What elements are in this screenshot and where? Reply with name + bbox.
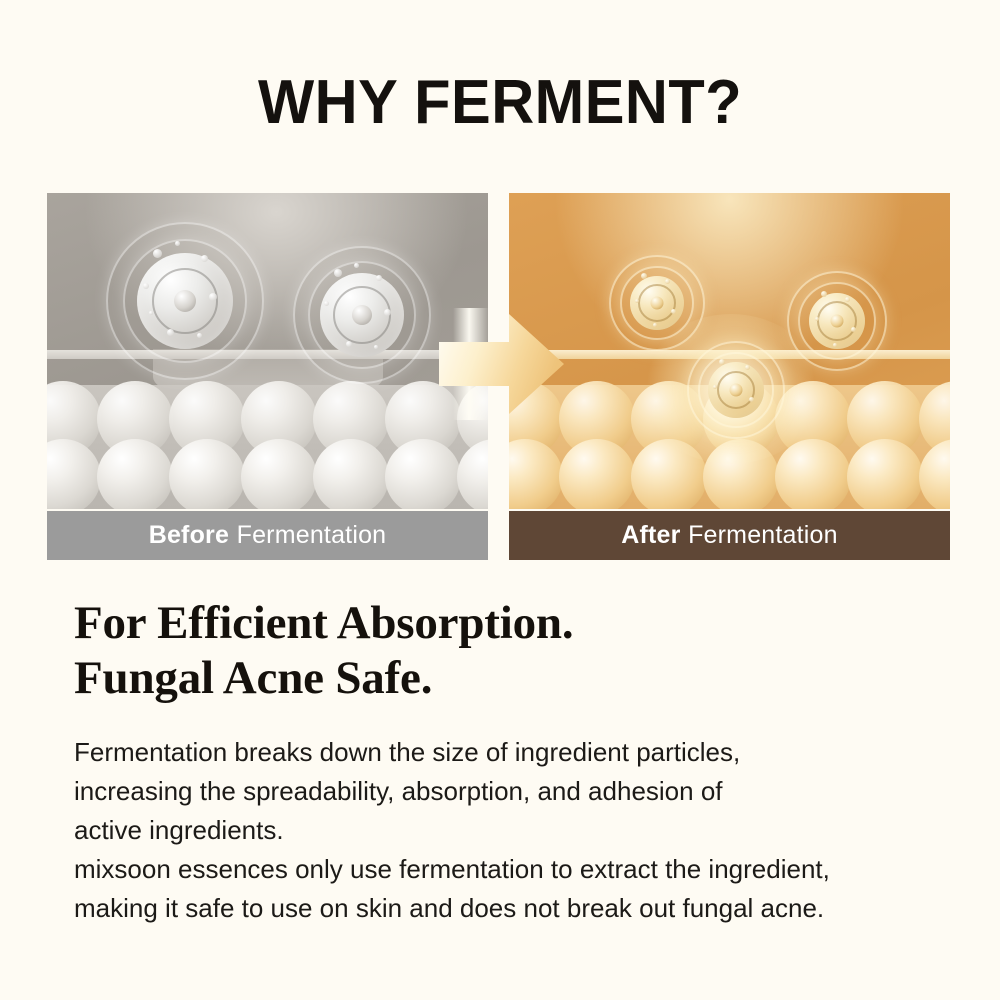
after-caption-bold: After (621, 521, 680, 550)
pearl-cell (847, 439, 923, 509)
after-caption: After Fermentation (509, 511, 950, 560)
before-caption-bold: Before (149, 521, 229, 550)
before-after-comparison: Before Fermentation (47, 193, 950, 560)
transformation-arrow-icon (439, 308, 564, 420)
pearl-cell (313, 439, 389, 509)
body-line-3: active ingredients. (74, 811, 954, 850)
headline-line-2: Fungal Acne Safe. (74, 651, 934, 706)
large-particle-icon (292, 245, 432, 385)
absorbing-particle-icon (687, 341, 785, 439)
small-particle-icon (609, 255, 705, 351)
infographic-page: WHY FERMENT? (0, 0, 1000, 1000)
body-copy: Fermentation breaks down the size of ing… (74, 733, 954, 928)
section-headline: For Efficient Absorption. Fungal Acne Sa… (74, 596, 934, 706)
pearl-cell (47, 439, 101, 509)
body-line-4: mixsoon essences only use fermentation t… (74, 850, 954, 889)
pearl-cell (97, 439, 173, 509)
body-line-1: Fermentation breaks down the size of ing… (74, 733, 954, 772)
after-panel: After Fermentation (509, 193, 950, 560)
pearl-row-front (509, 439, 950, 509)
pearl-cell (169, 439, 245, 509)
before-caption-regular: Fermentation (237, 521, 387, 550)
before-caption: Before Fermentation (47, 511, 488, 560)
barrier-surface-line (47, 350, 488, 359)
pearl-cell (241, 439, 317, 509)
pearl-cell (631, 439, 707, 509)
before-panel: Before Fermentation (47, 193, 488, 560)
skin-barrier-before (47, 349, 488, 509)
after-illustration (509, 193, 950, 509)
after-caption-regular: Fermentation (688, 521, 838, 550)
pearl-cell (509, 439, 563, 509)
pearl-cell (703, 439, 779, 509)
headline-line-1: For Efficient Absorption. (74, 597, 573, 649)
body-paragraph-2: mixsoon essences only use fermentation t… (74, 850, 954, 928)
body-line-5: making it safe to use on skin and does n… (74, 889, 954, 928)
body-paragraph-1: Fermentation breaks down the size of ing… (74, 733, 954, 850)
before-illustration (47, 193, 488, 509)
pearl-cell (919, 439, 950, 509)
body-line-2: increasing the spreadability, absorption… (74, 772, 954, 811)
pearl-cell (385, 439, 461, 509)
small-particle-icon (787, 271, 887, 371)
pearl-cell (559, 439, 635, 509)
pearl-row-front (47, 439, 488, 509)
pearl-cell (775, 439, 851, 509)
page-title: WHY FERMENT? (20, 72, 980, 134)
large-particle-icon (105, 221, 265, 381)
pearl-cell (457, 439, 488, 509)
